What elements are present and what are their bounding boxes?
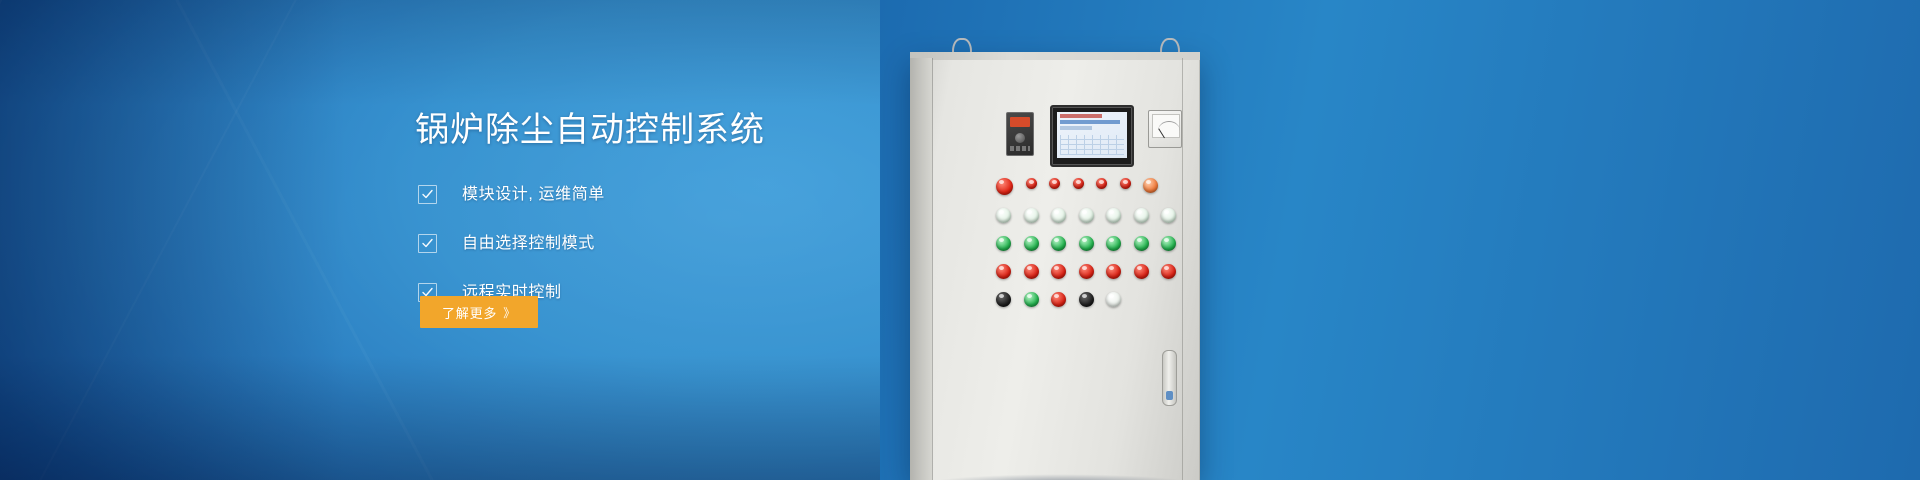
lamp-green[interactable] xyxy=(1106,236,1121,251)
hmi-screen-grid xyxy=(1060,135,1124,155)
feature-item-2: 自由选择控制模式 xyxy=(418,227,605,260)
learn-more-label: 了解更多 xyxy=(442,303,497,322)
hero-banner: 锅炉除尘自动控制系统 模块设计, 运维简单 自由选择控制模式 xyxy=(0,0,1920,480)
chevron-right-icon: 》 xyxy=(503,304,516,321)
lamp-red[interactable] xyxy=(1096,178,1107,189)
lamp-white[interactable] xyxy=(1106,208,1121,223)
lamp-white[interactable] xyxy=(1079,208,1094,223)
lamp-red[interactable] xyxy=(1073,178,1084,189)
lamp-green[interactable] xyxy=(1079,236,1094,251)
checkbox-check-icon xyxy=(418,234,437,253)
hmi-screen-line xyxy=(1060,126,1092,130)
lamp-red[interactable] xyxy=(1079,264,1094,279)
cabinet-door-handle[interactable] xyxy=(1162,350,1177,406)
lamp-white[interactable] xyxy=(1161,208,1176,223)
feature-item-1: 模块设计, 运维简单 xyxy=(418,178,605,211)
lamp-white[interactable] xyxy=(1134,208,1149,223)
hmi-screen-line xyxy=(1060,120,1120,124)
hmi-screen-line xyxy=(1060,114,1102,118)
lamp-red[interactable] xyxy=(1120,178,1131,189)
lamp-green[interactable] xyxy=(1161,236,1176,251)
cabinet-door-seam xyxy=(1182,58,1183,480)
feature-label: 自由选择控制模式 xyxy=(462,235,595,252)
lamp-red[interactable] xyxy=(1134,264,1149,279)
door-lock-icon xyxy=(1166,391,1173,400)
button-white[interactable] xyxy=(1106,292,1121,307)
learn-more-button[interactable]: 了解更多 》 xyxy=(420,296,538,328)
meter-scale xyxy=(1158,121,1180,131)
button-black[interactable] xyxy=(1079,292,1094,307)
checkbox-check-icon xyxy=(418,185,437,204)
hmi-screen xyxy=(1057,112,1127,158)
meter-face xyxy=(1152,114,1180,138)
lamp-red[interactable] xyxy=(1161,264,1176,279)
page-title: 锅炉除尘自动控制系统 xyxy=(415,108,765,152)
feature-list: 模块设计, 运维简单 自由选择控制模式 远程实时控制 xyxy=(418,178,605,309)
banner-content: 锅炉除尘自动控制系统 模块设计, 运维简单 自由选择控制模式 xyxy=(415,0,1055,480)
hmi-touch-panel xyxy=(1050,105,1134,167)
feature-label: 模块设计, 运维简单 xyxy=(462,186,605,203)
analog-panel-meter xyxy=(1148,110,1182,148)
lamp-red[interactable] xyxy=(1106,264,1121,279)
lamp-green[interactable] xyxy=(1134,236,1149,251)
lamp-orange[interactable] xyxy=(1143,178,1158,193)
